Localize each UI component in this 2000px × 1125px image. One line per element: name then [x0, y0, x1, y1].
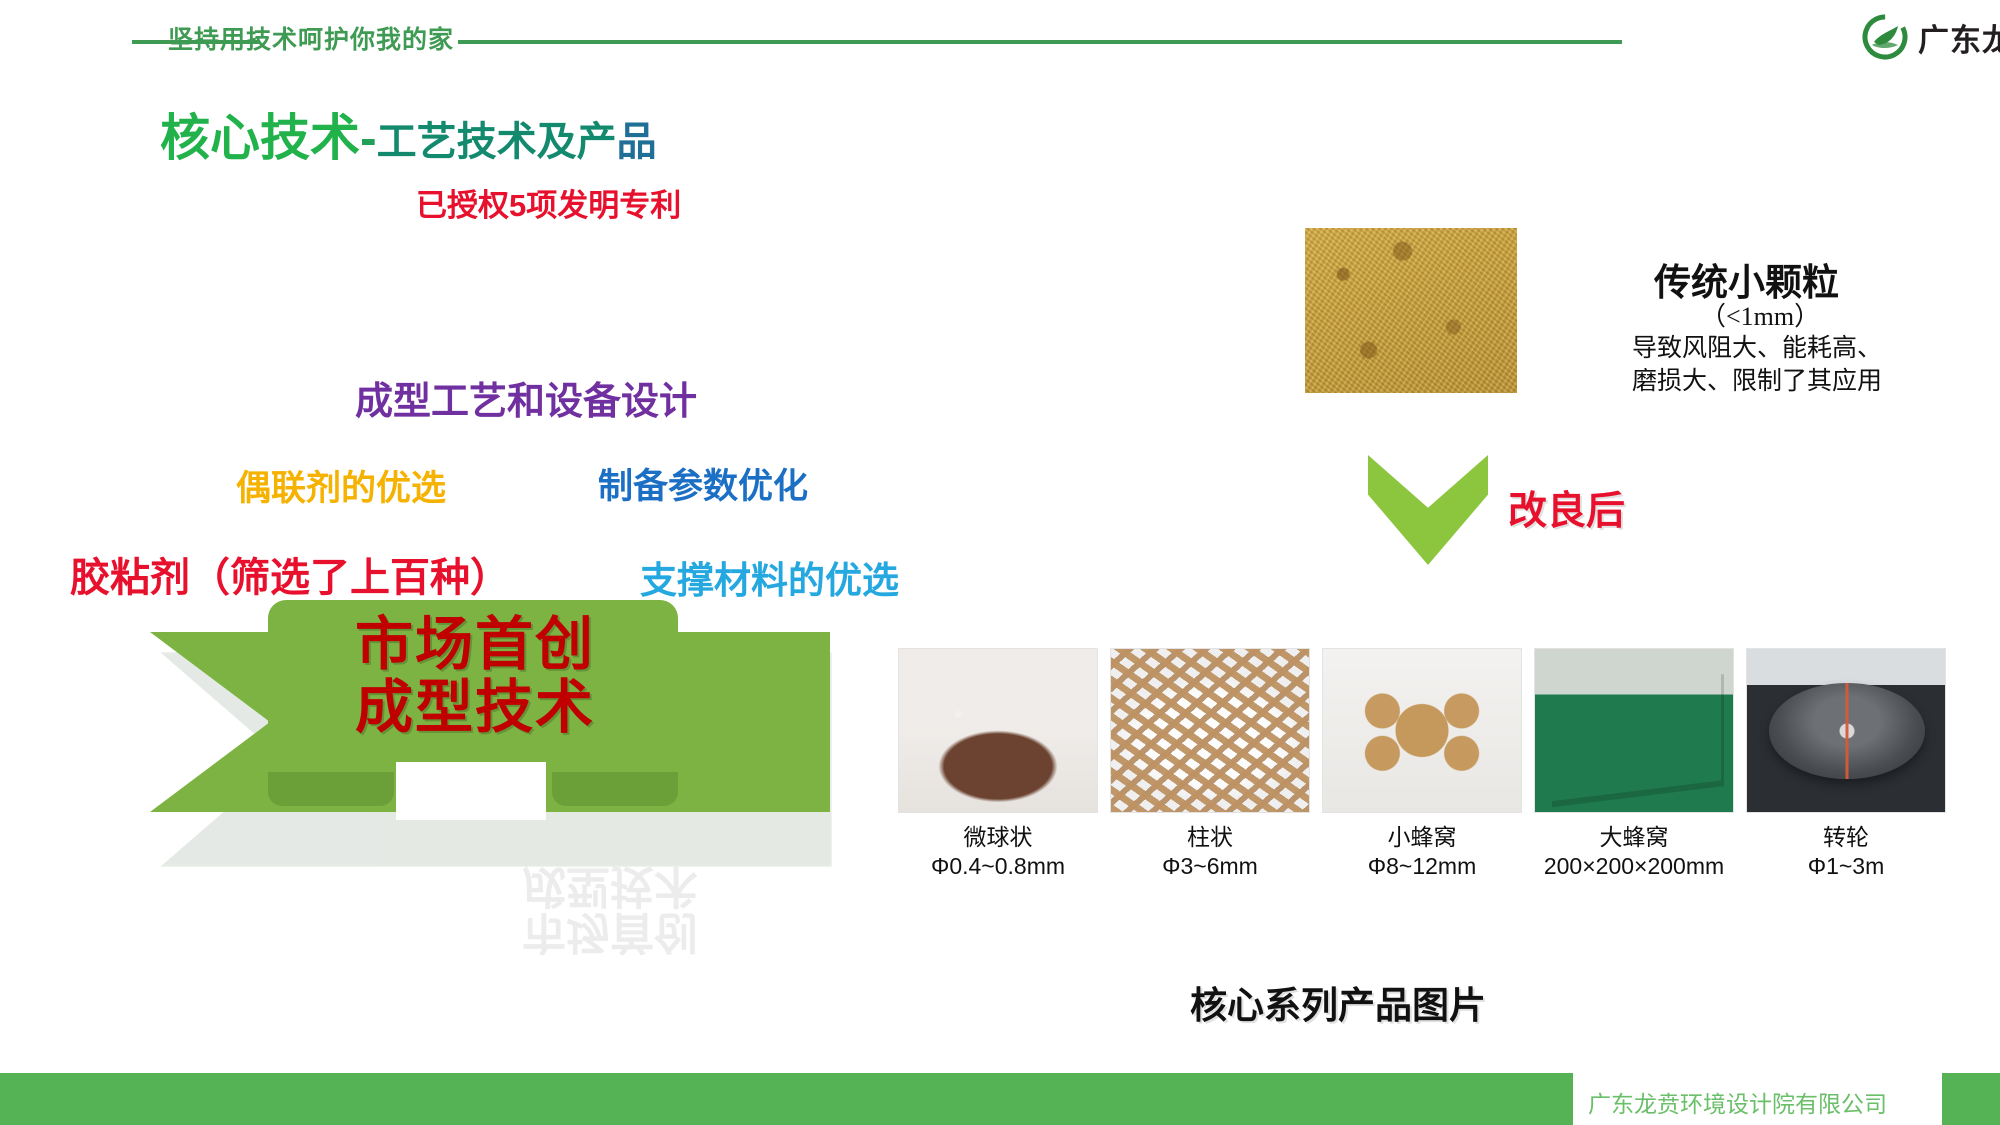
page-title-secondary: 工艺技术及产 [377, 120, 617, 164]
product-card-large-honeycomb[interactable]: 大蜂窝 200×200×200mm [1534, 648, 1734, 882]
product-size: Φ8~12mm [1322, 852, 1522, 881]
traditional-desc-line-2: 磨损大、限制了其应用 [1632, 365, 1882, 398]
product-card-rotor[interactable]: 转轮 Φ1~3m [1746, 648, 1946, 882]
banner-line-2: 成型技术 [280, 677, 670, 740]
banner-notch [396, 762, 546, 820]
keyword-preparation-parameters: 制备参数优化 [598, 458, 808, 509]
product-name: 小蜂窝 [1388, 824, 1457, 850]
keyword-coupling-agent: 偶联剂的优选 [236, 460, 446, 511]
banner-text: 市场首创 成型技术 [280, 614, 670, 739]
product-size: 200×200×200mm [1534, 852, 1734, 881]
header-slogan: 坚持用技术呵护你我的家 [168, 20, 454, 56]
slide-header: 坚持用技术呵护你我的家 广东龙贲 [0, 0, 2000, 72]
traditional-particle-description: 导致风阻大、能耗高、 磨损大、限制了其应用 [1632, 332, 1882, 398]
traditional-particle-size: （<1mm） [1700, 296, 1820, 333]
keyword-adhesive: 胶粘剂（筛选了上百种） [70, 545, 510, 603]
product-name: 大蜂窝 [1600, 824, 1669, 850]
banner-reflection: 市场首创 成型技术 [400, 862, 820, 954]
gallery-title: 核心系列产品图片 [1190, 975, 1486, 1029]
small-honeycomb-photo [1322, 648, 1522, 813]
banner-reflection-line-1: 市场首创 [400, 908, 820, 954]
company-logo: 广东龙贲 [1862, 14, 2000, 60]
product-card-cylindrical[interactable]: 柱状 Φ3~6mm [1110, 648, 1310, 882]
product-card-small-honeycomb[interactable]: 小蜂窝 Φ8~12mm [1322, 648, 1522, 882]
banner-reflection-line-2: 成型技术 [400, 862, 820, 908]
product-caption: 柱状 Φ3~6mm [1110, 823, 1310, 882]
banner-shape: 市场首创 成型技术 [150, 600, 822, 812]
product-size: Φ3~6mm [1110, 852, 1310, 881]
slide-root: 坚持用技术呵护你我的家 广东龙贲 核心技术-工艺技术及产品 已授权5项发明专利 … [0, 0, 2000, 1125]
product-size: Φ0.4~0.8mm [898, 852, 1098, 881]
product-card-microsphere[interactable]: 微球状 Φ0.4~0.8mm [898, 648, 1098, 882]
chevron-down-icon [1368, 455, 1488, 565]
header-rule-right-icon [458, 40, 1622, 44]
keyword-support-material: 支撑材料的优选 [640, 550, 899, 604]
cylindrical-pellets-photo [1110, 648, 1310, 813]
banner-foot-left [268, 772, 394, 806]
banner-foot-right [552, 772, 678, 806]
large-honeycomb-block-photo [1534, 648, 1734, 813]
banner-line-1: 市场首创 [280, 614, 670, 677]
page-title-dash: - [360, 110, 377, 166]
market-first-banner: 市场首创 成型技术 市场首创 成型技术 [150, 600, 850, 920]
slide-footer: 广东龙贲环境设计院有限公司 [0, 1073, 2000, 1125]
rotor-wheel-photo [1746, 648, 1946, 813]
page-title-primary: 核心技术 [160, 110, 360, 166]
product-gallery: 微球状 Φ0.4~0.8mm 柱状 Φ3~6mm 小蜂窝 Φ8~12mm 大蜂窝… [898, 648, 1996, 938]
product-name: 转轮 [1823, 824, 1869, 850]
logo-text: 广东龙贲 [1918, 15, 2000, 60]
product-caption: 微球状 Φ0.4~0.8mm [898, 823, 1098, 882]
keyword-forming-process: 成型工艺和设备设计 [355, 370, 697, 425]
leaf-circle-logo-icon [1862, 14, 1908, 60]
traditional-desc-line-1: 导致风阻大、能耗高、 [1632, 332, 1882, 365]
footer-bar-right [1942, 1073, 2000, 1125]
microsphere-powder-photo [898, 648, 1098, 813]
product-name: 柱状 [1187, 824, 1233, 850]
page-title: 核心技术-工艺技术及产品 [160, 98, 657, 170]
product-size: Φ1~3m [1746, 852, 1946, 881]
product-caption: 小蜂窝 Φ8~12mm [1322, 823, 1522, 882]
improved-label: 改良后 [1508, 480, 1625, 536]
granular-powder-photo [1305, 228, 1517, 393]
product-caption: 大蜂窝 200×200×200mm [1534, 823, 1734, 882]
product-caption: 转轮 Φ1~3m [1746, 823, 1946, 882]
product-name: 微球状 [964, 824, 1033, 850]
page-title-tertiary: 品 [617, 120, 657, 164]
patent-note: 已授权5项发明专利 [416, 180, 681, 225]
footer-bar-left [0, 1073, 1573, 1125]
footer-company-name: 广东龙贲环境设计院有限公司 [1588, 1085, 1887, 1119]
